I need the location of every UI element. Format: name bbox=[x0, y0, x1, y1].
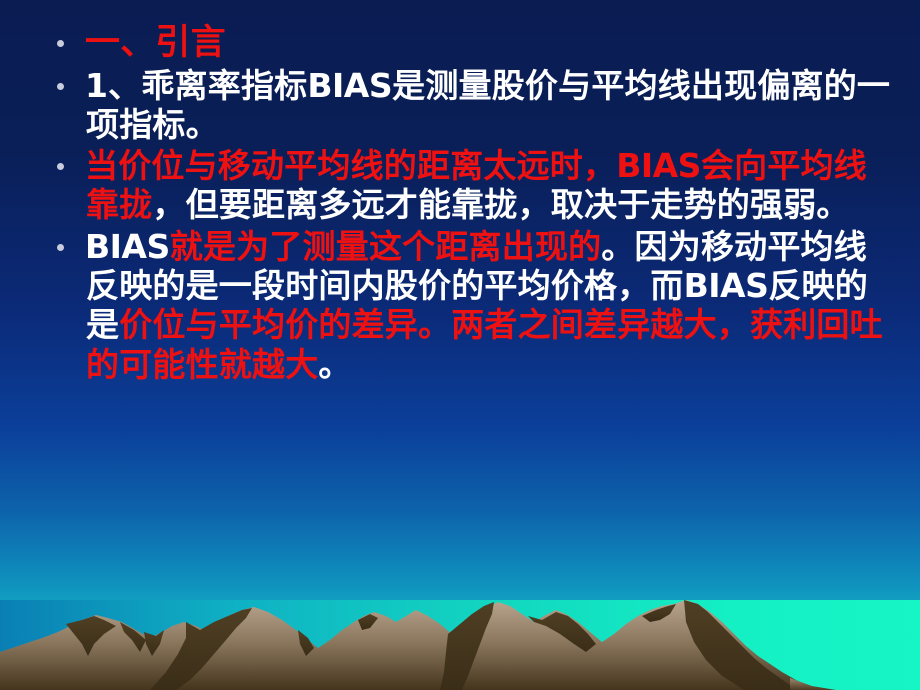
bullet-list: 一、引言 1、乖离率指标BIAS是测量股价与平均线出现偏离的一项指标。 当价位与… bbox=[20, 22, 900, 384]
mountain-range-graphic bbox=[0, 560, 920, 690]
bullet-item-purpose: BIAS就是为了测量这个距离出现的。因为移动平均线反映的是一段时间内股价的平均价… bbox=[20, 227, 900, 384]
bullet-item-convergence: 当价位与移动平均线的距离太远时，BIAS会向平均线靠拢，但要距离多远才能靠拢，取… bbox=[20, 146, 900, 225]
purpose-run-6: 价位与平均价的差异。两者之间差异越大，获利回吐的可能性就越大 bbox=[86, 305, 883, 383]
convergence-run-4: ，但要距离多远才能靠拢，取决于走势的强弱。 bbox=[152, 185, 849, 224]
purpose-run-bias-2: BIAS bbox=[684, 266, 769, 305]
presentation-slide: 一、引言 1、乖离率指标BIAS是测量股价与平均线出现偏离的一项指标。 当价位与… bbox=[0, 0, 920, 690]
heading-run-1: 一、引言 bbox=[85, 22, 226, 63]
slide-text-body: 一、引言 1、乖离率指标BIAS是测量股价与平均线出现偏离的一项指标。 当价位与… bbox=[0, 0, 920, 386]
mountain-tail-right bbox=[790, 678, 836, 690]
convergence-run-bias: BIAS bbox=[616, 146, 701, 185]
definition-run-bias: BIAS bbox=[307, 66, 392, 105]
convergence-run-1: 当价位与移动平均线的距离太远时， bbox=[85, 146, 616, 185]
purpose-run-period: 。 bbox=[318, 345, 351, 384]
purpose-run-bias-1: BIAS bbox=[85, 227, 170, 266]
bullet-item-heading: 一、引言 bbox=[20, 22, 900, 64]
bullet-item-definition: 1、乖离率指标BIAS是测量股价与平均线出现偏离的一项指标。 bbox=[20, 66, 900, 145]
purpose-run-2: 就是为了测量这个距离出现的 bbox=[170, 227, 602, 266]
definition-run-1: 1、乖离率指标 bbox=[85, 66, 307, 105]
